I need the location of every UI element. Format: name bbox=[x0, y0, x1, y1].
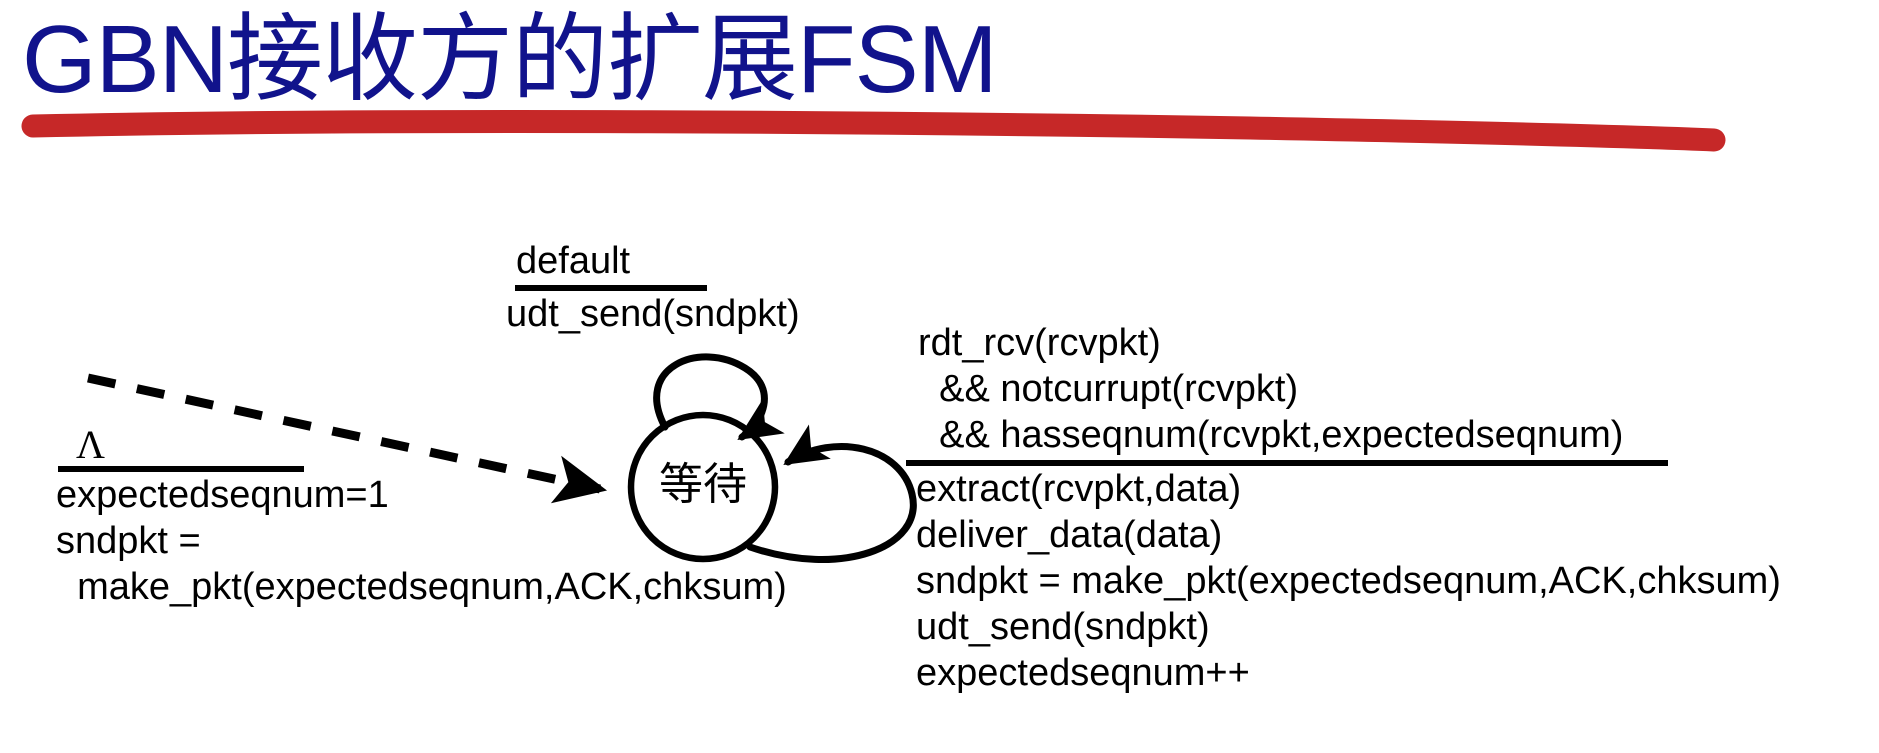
receive-transition-action-4: udt_send(sndpkt) bbox=[916, 604, 1210, 650]
receive-transition-action-3: sndpkt = make_pkt(expectedseqnum,ACK,chk… bbox=[916, 558, 1781, 604]
receive-transition-action-1: extract(rcvpkt,data) bbox=[916, 466, 1241, 512]
initial-transition-action-3: make_pkt(expectedseqnum,ACK,chksum) bbox=[56, 564, 787, 610]
receive-transition-condition-2: && notcurrupt(rcvpkt) bbox=[918, 366, 1298, 412]
receive-transition-action-5: expectedseqnum++ bbox=[916, 650, 1250, 696]
initial-transition-condition: Λ bbox=[76, 423, 105, 467]
receive-self-loop-arrow bbox=[750, 446, 913, 559]
initial-transition-action-1: expectedseqnum=1 bbox=[56, 472, 389, 518]
slide-canvas: GBN接收方的扩展FSM 等待 default udt_send(sndpkt)… bbox=[0, 0, 1879, 753]
initial-transition-action-2: sndpkt = bbox=[56, 518, 201, 564]
default-transition-condition: default bbox=[516, 238, 630, 284]
receive-transition-condition-1: rdt_rcv(rcvpkt) bbox=[918, 320, 1161, 366]
receive-transition-action-2: deliver_data(data) bbox=[916, 512, 1222, 558]
default-self-loop-arrow bbox=[657, 357, 765, 437]
wait-state-label: 等待 bbox=[633, 458, 773, 512]
default-transition-action: udt_send(sndpkt) bbox=[506, 291, 800, 337]
page-title: GBN接收方的扩展FSM bbox=[22, 6, 997, 114]
receive-transition-condition-3: && hasseqnum(rcvpkt,expectedseqnum) bbox=[918, 412, 1623, 458]
